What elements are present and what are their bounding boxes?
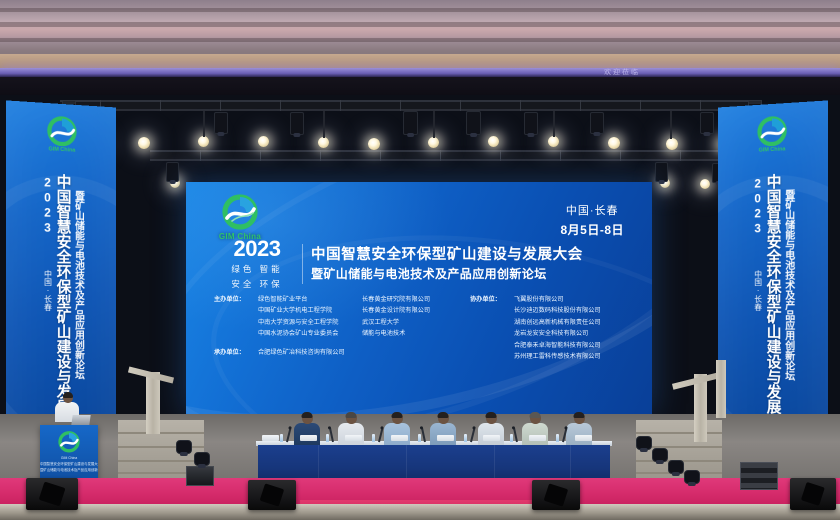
ceiling-led-strip: 欢迎莅临 bbox=[0, 68, 840, 77]
stair-step bbox=[118, 460, 204, 462]
moving-head-light bbox=[700, 112, 714, 134]
cohost-row: 湖南创远高新机械有限责任公司 bbox=[470, 317, 638, 328]
title-divider bbox=[302, 244, 303, 284]
water-bottle bbox=[556, 434, 559, 442]
host-col1-item: 中国矿业大学机电工程学院 bbox=[258, 305, 362, 316]
host-col1-item: 中南大学资源与安全工程学院 bbox=[258, 317, 362, 328]
water-bottle bbox=[326, 434, 329, 442]
spacer bbox=[214, 328, 258, 339]
cohost-item: 苏州理工雷科传感技术有限公司 bbox=[514, 351, 638, 362]
gim-logo-icon bbox=[755, 115, 788, 151]
spotlight bbox=[488, 136, 499, 147]
lamp-hanger bbox=[203, 111, 205, 137]
lamp-hanger bbox=[553, 111, 555, 137]
cohost-label: 协办单位： bbox=[470, 294, 514, 305]
spotlight bbox=[666, 138, 678, 150]
podium-logo-icon bbox=[57, 431, 81, 455]
screen-year-block: 2023 绿色 智能 安全 环保 bbox=[220, 238, 294, 290]
spotlight bbox=[548, 136, 559, 147]
organizer-row: 中南大学资源与安全工程学院 武汉工程大学 bbox=[214, 317, 464, 328]
stage-edge bbox=[0, 504, 840, 520]
spacer bbox=[470, 351, 514, 362]
organizers-right-column: 协办单位： 飞翼股份有限公司 长沙迪迈数码科技股份有限公司 湖南创远高新机械有限… bbox=[464, 294, 638, 363]
host-col2-item: 长春黄金设计院有限公司 bbox=[362, 305, 464, 316]
host-col1-item: 绿色智能矿业平台 bbox=[258, 294, 362, 305]
podium-laptop bbox=[71, 415, 90, 425]
host-col2-item: 武汉工程大学 bbox=[362, 317, 464, 328]
table-nameplate bbox=[529, 435, 546, 441]
host-col2-item: 长春黄金研究院有限公司 bbox=[362, 294, 464, 305]
balustrade-left bbox=[146, 372, 160, 434]
gim-logo-icon bbox=[220, 194, 260, 234]
equipment-case-right bbox=[740, 462, 778, 490]
stage-monitor-speaker bbox=[26, 478, 78, 510]
cohost-row: 长沙迪迈数码科技股份有限公司 bbox=[470, 305, 638, 316]
cohost-item: 飞翼股份有限公司 bbox=[514, 294, 638, 305]
banner-logo-left: GIM China bbox=[36, 114, 87, 154]
spacer bbox=[214, 305, 258, 316]
banner-year-right: 2023 bbox=[752, 176, 764, 236]
banner-place-left: 中国·长春 bbox=[43, 270, 51, 311]
lighting-truss-lower bbox=[150, 150, 760, 161]
lighting-truss-upper bbox=[60, 100, 760, 111]
stair-step bbox=[636, 432, 722, 434]
cohost-row: 苏州理工雷科传感技术有限公司 bbox=[470, 351, 638, 362]
lamp-hanger bbox=[670, 111, 672, 139]
stage-monitor-speaker bbox=[248, 480, 296, 510]
undertaker-name: 合肥绿色矿冶科技咨询有限公司 bbox=[258, 347, 464, 358]
screen-slogan-1: 绿色 智能 bbox=[220, 263, 294, 275]
gim-logo-icon bbox=[45, 115, 78, 151]
balustrade-right bbox=[694, 374, 707, 442]
spotlight bbox=[368, 138, 380, 150]
stair-step bbox=[118, 432, 204, 434]
table-nameplate bbox=[391, 435, 408, 441]
cohost-item: 湖南创远高新机械有限责任公司 bbox=[514, 317, 638, 328]
moving-head-light bbox=[466, 111, 481, 135]
water-bottle bbox=[280, 434, 283, 442]
led-strip-text: 欢迎莅临 bbox=[604, 68, 640, 77]
screen-dates: 8月5日-8日 bbox=[560, 221, 624, 238]
undertaker-label: 承办单位： bbox=[214, 347, 258, 358]
floor-light bbox=[194, 452, 210, 466]
table-nameplate bbox=[483, 435, 500, 441]
organizer-row: 主办单位： 绿色智能矿业平台 长春黄金研究院有限公司 bbox=[214, 294, 464, 305]
moving-head-light bbox=[166, 162, 179, 182]
spotlight bbox=[700, 179, 710, 189]
table-nameplate bbox=[300, 435, 317, 441]
spotlight bbox=[258, 136, 269, 147]
spotlight bbox=[318, 137, 329, 148]
moving-head-light bbox=[290, 112, 304, 135]
screen-titles: 中国智慧安全环保型矿山建设与发展大会 暨矿山储能与电池技术及产品应用创新论坛 bbox=[311, 246, 620, 283]
water-bottle bbox=[510, 434, 513, 442]
table-nameplate bbox=[575, 435, 592, 441]
water-bottle bbox=[418, 434, 421, 442]
podium-logo-text: GIM China bbox=[40, 456, 98, 461]
screen-title-main: 中国智慧安全环保型矿山建设与发展大会 bbox=[311, 246, 620, 264]
stage-monitor-speaker bbox=[790, 478, 836, 510]
undertaker-row: 承办单位： 合肥绿色矿冶科技咨询有限公司 bbox=[214, 347, 464, 358]
organizer-row: 中国矿业大学机电工程学院 长春黄金设计院有限公司 bbox=[214, 305, 464, 316]
cohost-row: 合肥泰禾卓海智能科技有限公司 bbox=[470, 340, 638, 351]
floor-light bbox=[684, 470, 700, 484]
lamp-hanger bbox=[433, 111, 435, 138]
host-label: 主办单位： bbox=[214, 294, 258, 305]
banner-logo-right: GIM China bbox=[747, 114, 798, 154]
screen-slogan-2: 安全 环保 bbox=[220, 278, 294, 290]
screen-title-row: 2023 绿色 智能 安全 环保 中国智慧安全环保型矿山建设与发展大会 暨矿山储… bbox=[220, 238, 620, 290]
moving-head-light bbox=[590, 112, 604, 134]
moving-head-light bbox=[403, 111, 418, 135]
table-nameplate bbox=[345, 435, 362, 441]
spacer bbox=[470, 317, 514, 328]
spacer bbox=[470, 328, 514, 339]
pillar-right bbox=[716, 360, 726, 418]
table-nameplate bbox=[262, 435, 279, 441]
screen-gim-logo: GIM China bbox=[212, 194, 268, 241]
stage-monitor-speaker bbox=[532, 480, 580, 510]
equipment-case-left bbox=[186, 466, 214, 486]
screen-location: 中国·长春 bbox=[560, 202, 624, 218]
floor-light bbox=[176, 440, 192, 454]
host-col1-item: 中国水泥协会矿山专业委员会 bbox=[258, 328, 362, 339]
table-nameplate bbox=[437, 435, 454, 441]
spacer bbox=[214, 317, 258, 328]
water-bottle bbox=[372, 434, 375, 442]
screen-organizers: 主办单位： 绿色智能矿业平台 长春黄金研究院有限公司 中国矿业大学机电工程学院 … bbox=[214, 294, 638, 363]
conference-stage-photo: 欢迎莅临 bbox=[0, 0, 840, 520]
floor-light bbox=[636, 436, 652, 450]
floor-light bbox=[652, 448, 668, 462]
banner-place-right: 中国·长春 bbox=[754, 270, 762, 311]
moving-head-light bbox=[524, 112, 538, 135]
lamp-hanger bbox=[323, 111, 325, 138]
spacer bbox=[470, 305, 514, 316]
screen-location-block: 中国·长春 8月5日-8日 bbox=[560, 202, 624, 238]
spotlight bbox=[608, 137, 620, 149]
cohost-row: 协办单位： 飞翼股份有限公司 bbox=[470, 294, 638, 305]
cohost-row: 龙岩龙安安全科技有限公司 bbox=[470, 328, 638, 339]
water-bottle bbox=[464, 434, 467, 442]
podium-banner-line2: 暨矿山储能与电池技术及产品应用创新论坛 bbox=[40, 468, 98, 473]
screen-year: 2023 bbox=[220, 238, 294, 260]
cohost-item: 长沙迪迈数码科技股份有限公司 bbox=[514, 305, 638, 316]
floor-light bbox=[668, 460, 684, 474]
organizers-left-column: 主办单位： 绿色智能矿业平台 长春黄金研究院有限公司 中国矿业大学机电工程学院 … bbox=[214, 294, 464, 363]
screen-title-sub: 暨矿山储能与电池技术及产品应用创新论坛 bbox=[311, 267, 620, 283]
cohost-item: 龙岩龙安安全科技有限公司 bbox=[514, 328, 638, 339]
spotlight bbox=[198, 136, 209, 147]
main-led-screen: GIM China 中国·长春 8月5日-8日 2023 绿色 智能 安全 环保… bbox=[186, 182, 652, 414]
moving-head-light bbox=[214, 112, 228, 134]
organizer-row: 中国水泥协会矿山专业委员会 储能与电池技术 bbox=[214, 328, 464, 339]
host-col2-item: 储能与电池技术 bbox=[362, 328, 464, 339]
cohost-item: 合肥泰禾卓海智能科技有限公司 bbox=[514, 340, 638, 351]
banner-year-left: 2023 bbox=[41, 175, 53, 236]
spotlight bbox=[428, 137, 439, 148]
moving-head-light bbox=[655, 162, 668, 182]
spotlight bbox=[138, 137, 150, 149]
spacer bbox=[470, 340, 514, 351]
podium-banner-line1: 中国智慧安全环保型矿山建设与发展大会 bbox=[40, 462, 98, 467]
